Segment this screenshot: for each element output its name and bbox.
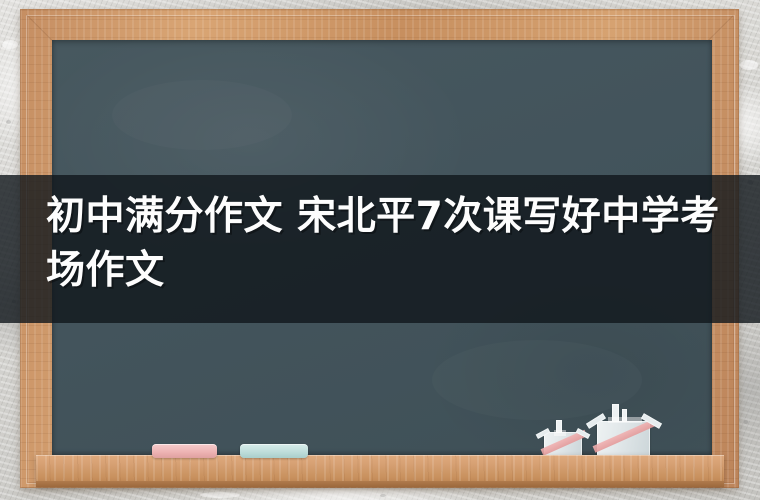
chalk-tray-lip [36,481,724,487]
milk-carton-large [586,404,662,456]
headline-text: 初中满分作文 宋北平7次课写好中学考场作文 [46,190,746,298]
carton-cap [554,430,566,436]
blue-chalk-stick [240,444,308,458]
board-smudge [112,80,292,150]
carton-cap [608,417,642,423]
wall-speck [744,420,748,424]
wall-highlight [740,60,758,70]
wall-speck [6,120,11,124]
pink-chalk-stick [152,444,217,458]
wall-speck [380,494,386,497]
milk-carton-small [536,418,590,456]
carton-body [597,421,650,456]
carton-stripe [593,419,656,452]
wall-highlight [2,40,18,49]
chalkboard-scene: 初中满分作文 宋北平7次课写好中学考场作文 [0,0,760,500]
wall-highlight [200,492,240,498]
